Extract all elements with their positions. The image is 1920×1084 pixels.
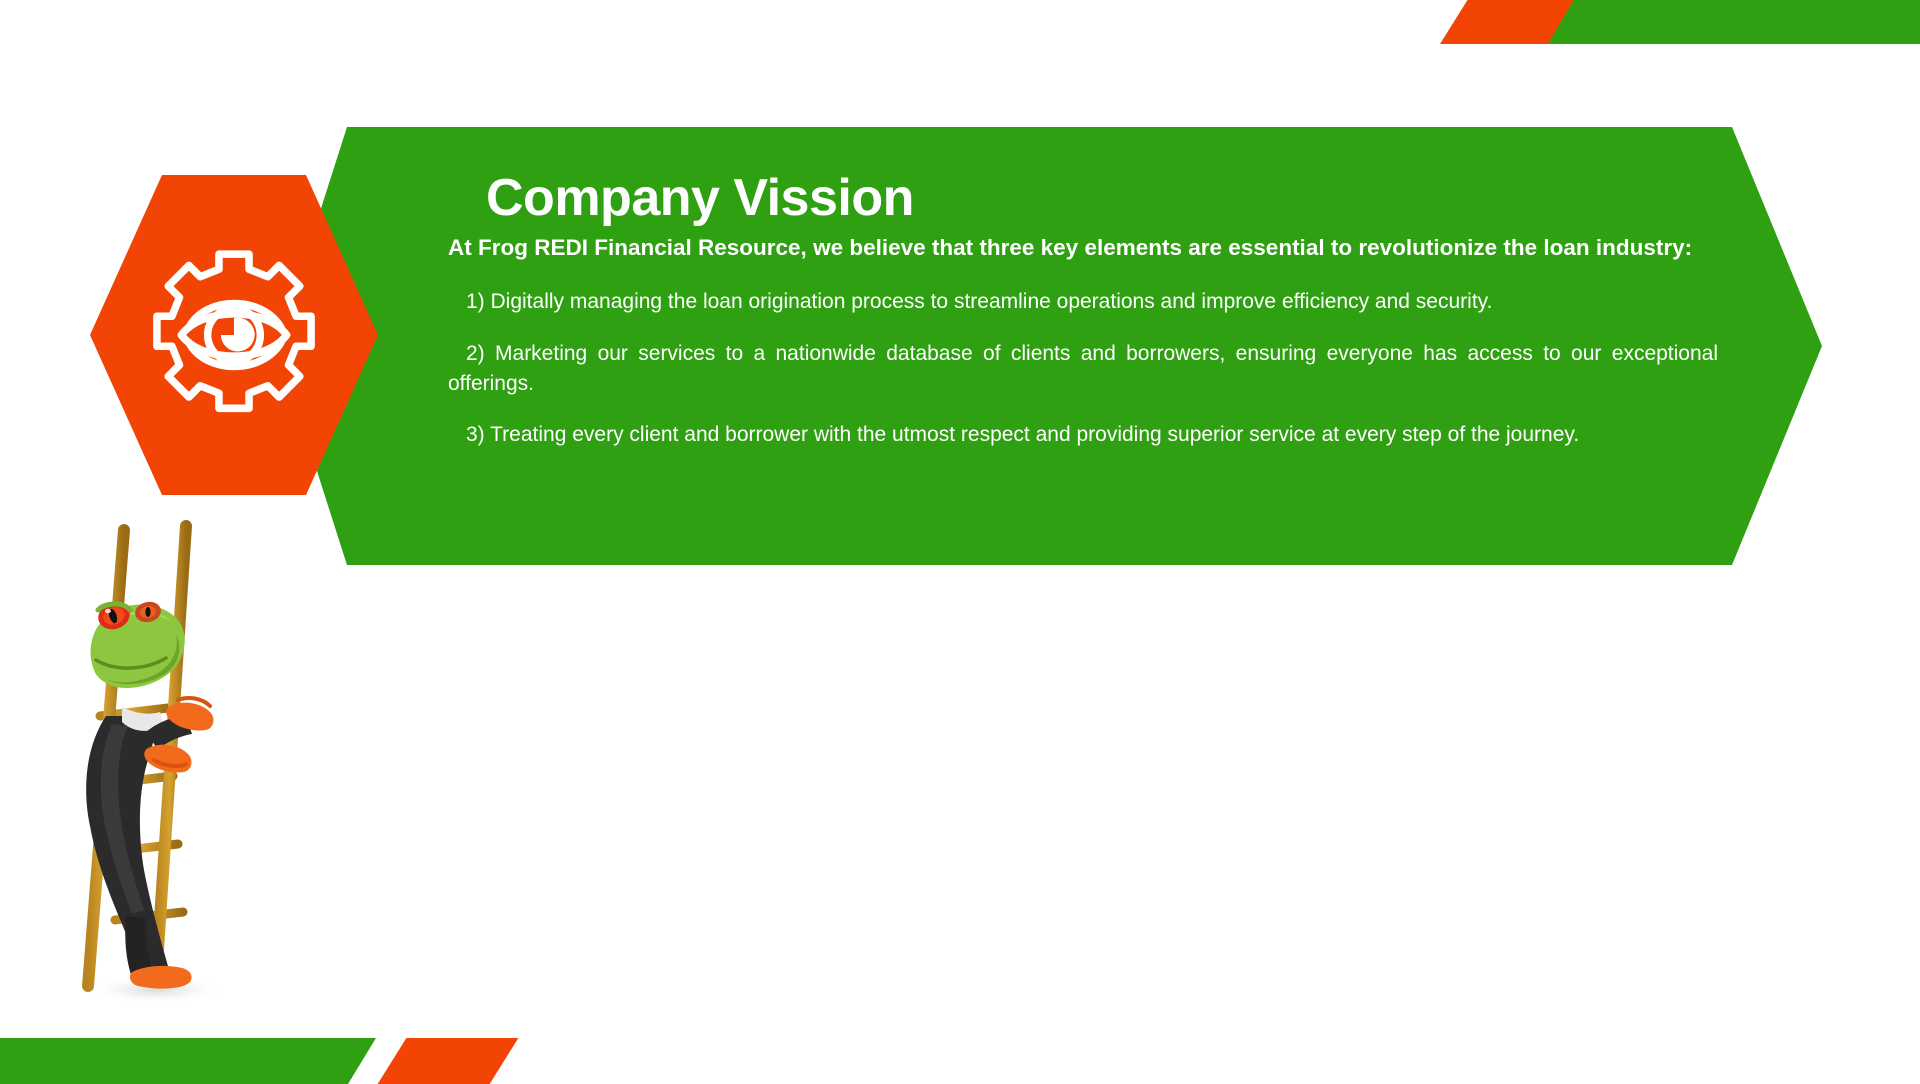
vision-list: 1) Digitally managing the loan originati… xyxy=(448,287,1728,450)
decoration-bottom-left-orange xyxy=(378,1038,519,1084)
decoration-top-right-green xyxy=(1548,0,1920,44)
list-item: 3) Treating every client and borrower wi… xyxy=(448,420,1718,450)
eye-gear-icon xyxy=(140,241,328,429)
list-item: 2) Marketing our services to a nationwid… xyxy=(448,339,1718,399)
decoration-bottom-left-green xyxy=(0,1038,376,1084)
slide-content: Company Vission At Frog REDI Financial R… xyxy=(448,170,1728,450)
page-title: Company Vission xyxy=(486,170,1728,227)
list-item: 1) Digitally managing the loan originati… xyxy=(448,287,1718,317)
intro-paragraph: At Frog REDI Financial Resource, we beli… xyxy=(448,233,1723,263)
frog-on-ladder-illustration xyxy=(60,520,260,1020)
